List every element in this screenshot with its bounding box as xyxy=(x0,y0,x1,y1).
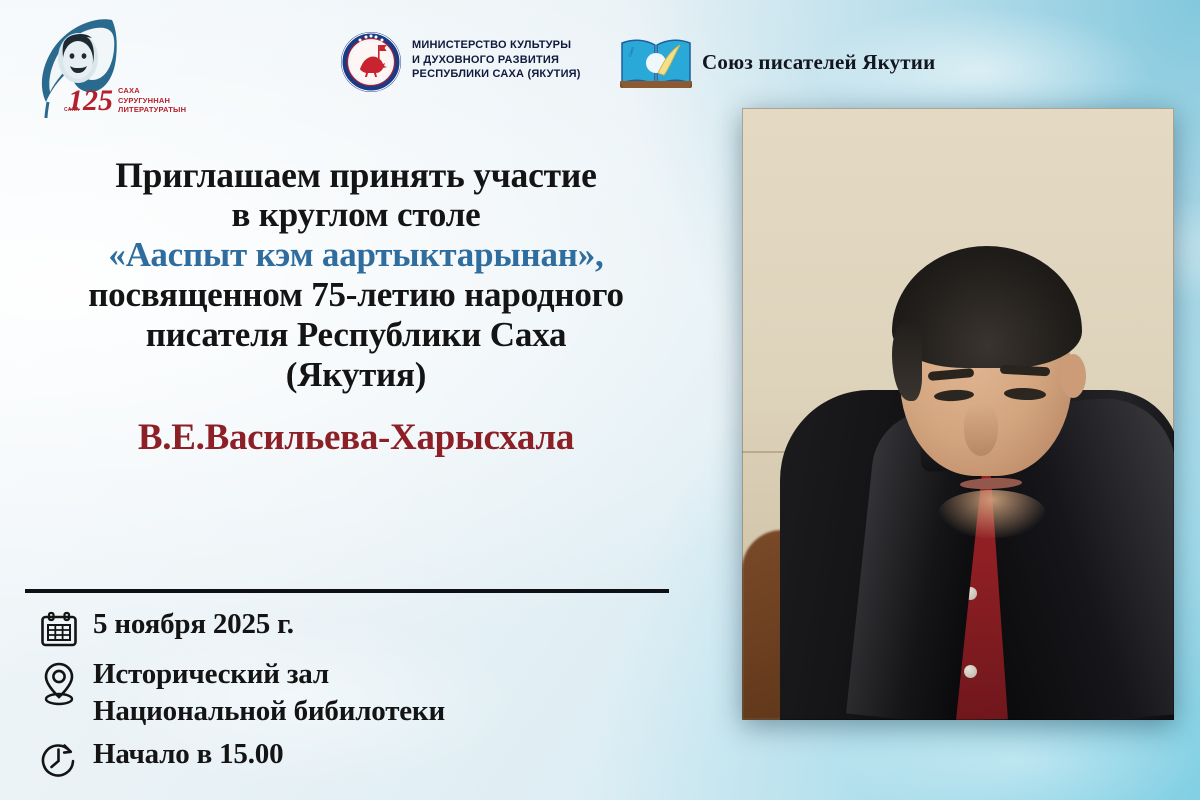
ministry-line-2: И ДУХОВНОГО РАЗВИТИЯ xyxy=(412,53,581,68)
sakha-republic-emblem-icon: САХА xyxy=(340,31,402,93)
invitation-text-block: Приглашаем принять участие в круглом сто… xyxy=(12,155,700,459)
event-location-line-1: Исторический зал xyxy=(93,656,445,693)
poster-header: 125 САХА САХА СУРУГУННАН ЛИТЕРАТУРАТЫН xyxy=(0,0,1200,120)
event-time-row: Начало в 15.00 xyxy=(25,736,685,780)
location-pin-icon xyxy=(25,656,93,708)
logo-125-word-1: САХА xyxy=(118,86,186,96)
writers-union-label: Союз писателей Якутии xyxy=(702,50,935,75)
invitation-line-4: посвященном 75-летию народного xyxy=(12,275,700,315)
ministry-line-1: МИНИСТЕРСТВО КУЛЬТУРЫ xyxy=(412,38,581,53)
event-details: 5 ноября 2025 г. Исторический зал Национ… xyxy=(25,606,685,786)
logo-125-words: САХА СУРУГУННАН ЛИТЕРАТУРАТЫН xyxy=(118,86,186,115)
calendar-icon xyxy=(25,606,93,650)
ministry-line-3: РЕСПУБЛИКИ САХА (ЯКУТИЯ) xyxy=(412,67,581,82)
event-date-row: 5 ноября 2025 г. xyxy=(25,606,685,650)
event-poster: 125 САХА САХА СУРУГУННАН ЛИТЕРАТУРАТЫН xyxy=(0,0,1200,800)
portrait-frame xyxy=(742,108,1174,720)
logo-125-word-2: СУРУГУННАН xyxy=(118,96,186,106)
event-location-row: Исторический зал Национальной бибилотеки xyxy=(25,656,685,730)
svg-text:САХА: САХА xyxy=(367,85,375,89)
author-name: В.Е.Васильева-Харысхала xyxy=(12,417,700,459)
writer-portrait-photo xyxy=(742,108,1174,720)
event-date-text: 5 ноября 2025 г. xyxy=(93,606,294,643)
invitation-line-2: в круглом столе xyxy=(12,195,700,235)
event-time-text: Начало в 15.00 xyxy=(93,736,283,773)
invitation-line-1: Приглашаем принять участие xyxy=(12,155,700,195)
clock-icon xyxy=(25,736,93,780)
logo-125-word-3: ЛИТЕРАТУРАТЫН xyxy=(118,105,186,115)
roundtable-title: «Ааспыт кэм аартыктарынан», xyxy=(12,235,700,275)
event-location-text-group: Исторический зал Национальной бибилотеки xyxy=(93,656,445,730)
logo-125-anniversary: 125 САХА САХА СУРУГУННАН ЛИТЕРАТУРАТЫН xyxy=(26,14,176,126)
invitation-line-6: (Якутия) xyxy=(12,355,700,395)
logo-125-small-word: САХА xyxy=(64,107,79,113)
open-book-quill-icon: Союз xyxy=(618,33,694,91)
ministry-label: МИНИСТЕРСТВО КУЛЬТУРЫ И ДУХОВНОГО РАЗВИТ… xyxy=(412,38,581,82)
event-location-line-2: Национальной бибилотеки xyxy=(93,693,445,730)
invitation-line-5: писателя Республики Саха xyxy=(12,315,700,355)
section-divider xyxy=(25,589,669,593)
